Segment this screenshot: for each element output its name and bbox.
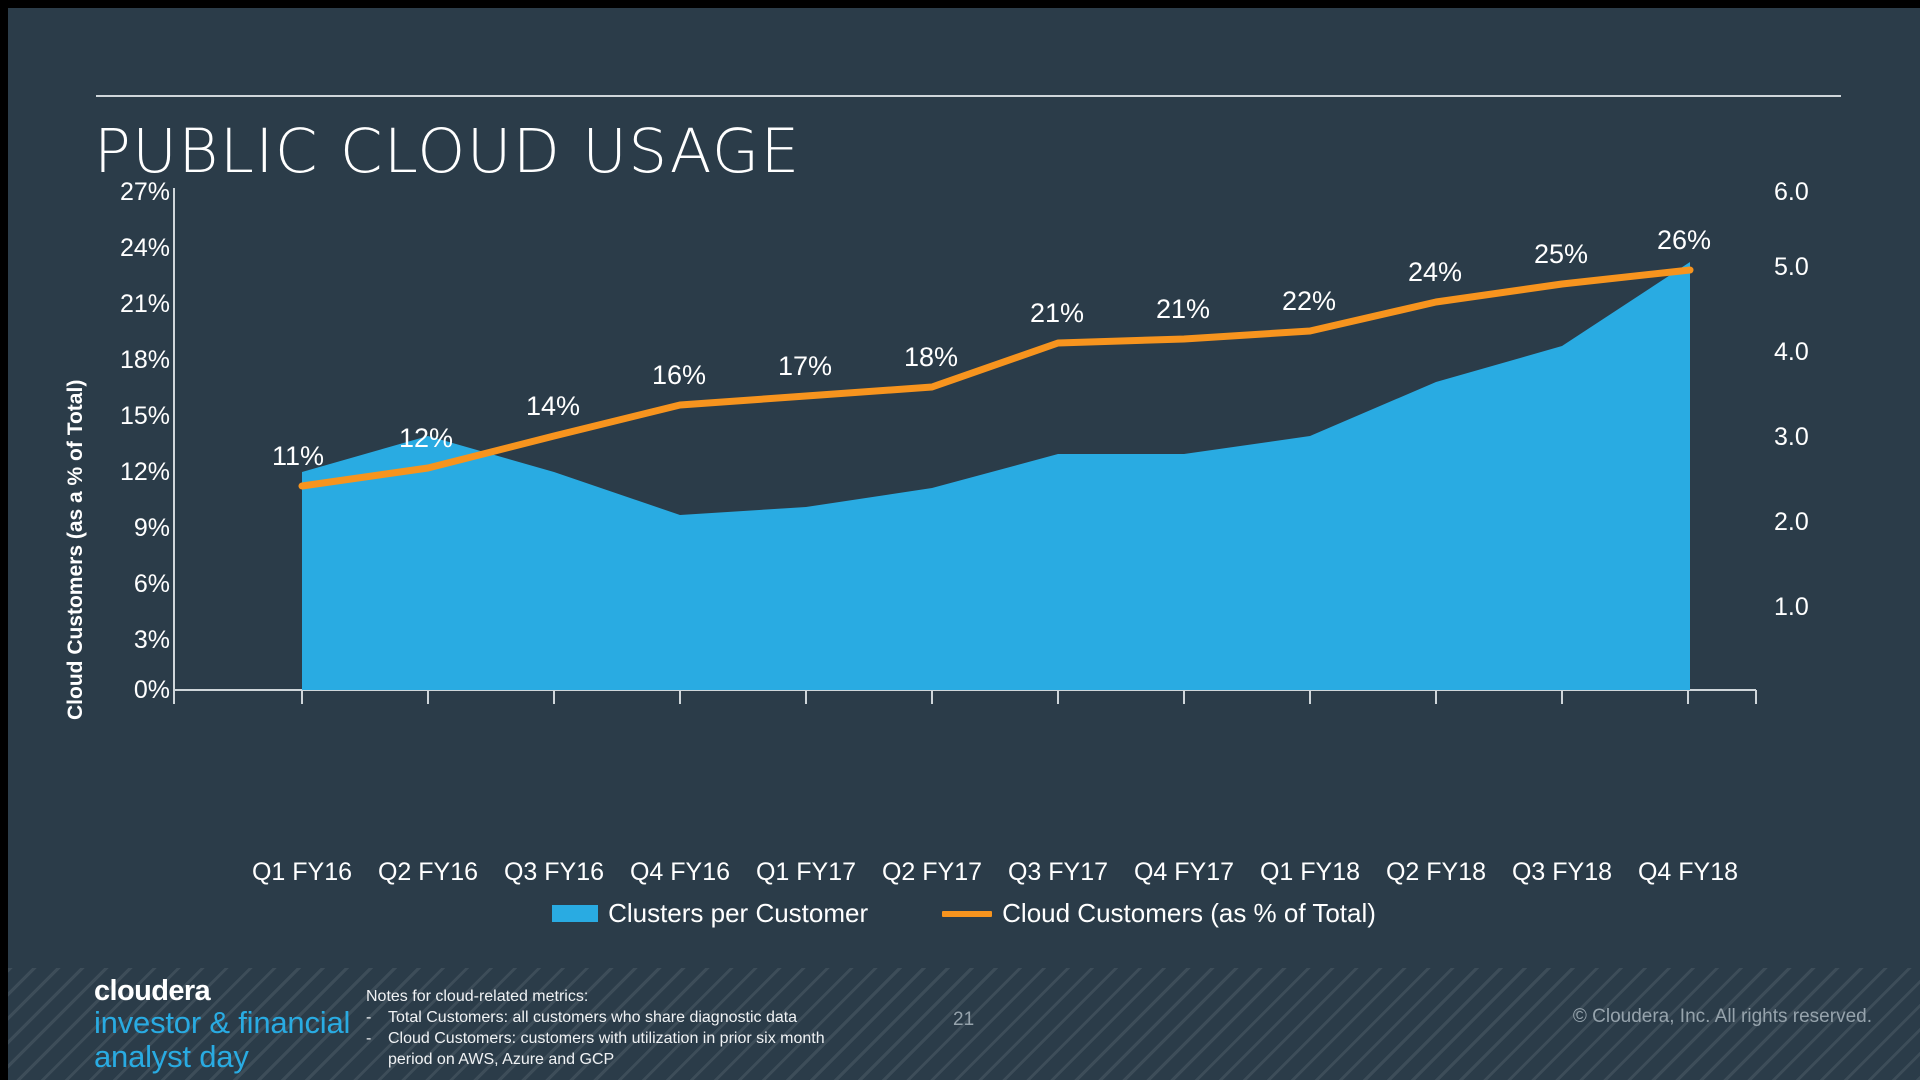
brand-name: cloudera [94, 976, 350, 1006]
y2-tick-5: 5.0 [1774, 253, 1809, 282]
y2-tick-1: 1.0 [1774, 593, 1809, 622]
chart-plot [8, 158, 1920, 948]
x-tick-q1-fy16: Q1 FY16 [252, 858, 352, 887]
y-tick-6: 6% [98, 570, 170, 599]
y2-tick-2: 2.0 [1774, 508, 1809, 537]
x-tick-q2-fy18: Q2 FY18 [1386, 858, 1486, 887]
y-tick-12: 12% [98, 458, 170, 487]
y-tick-0: 0% [98, 676, 170, 705]
x-tick-q3-fy17: Q3 FY17 [1008, 858, 1108, 887]
footnote-item-1: - Total Customers: all customers who sha… [366, 1007, 825, 1028]
x-tick-q4-fy17: Q4 FY17 [1134, 858, 1234, 887]
legend-item-cloud-customers[interactable]: Cloud Customers (as % of Total) [942, 898, 1376, 929]
cloudera-logo: cloudera investor & financial analyst da… [94, 976, 350, 1073]
data-label-q2-fy18: 24% [1408, 257, 1462, 288]
slide-canvas: PUBLIC CLOUD USAGE [8, 8, 1920, 1080]
x-tick-q1-fy17: Q1 FY17 [756, 858, 856, 887]
x-tick-q4-fy16: Q4 FY16 [630, 858, 730, 887]
brand-tagline-line2: analyst day [94, 1040, 350, 1073]
footnotes: Notes for cloud-related metrics: - Total… [366, 986, 825, 1070]
footnote-text-1: Total Customers: all customers who share… [388, 1007, 797, 1028]
y2-tick-4: 4.0 [1774, 338, 1809, 367]
footnote-dash-2: - [366, 1028, 388, 1049]
legend-label-cloud-customers: Cloud Customers (as % of Total) [1002, 898, 1376, 929]
y2-tick-3: 3.0 [1774, 423, 1809, 452]
category-axis-ticks [174, 690, 1756, 704]
x-tick-q4-fy18: Q4 FY18 [1638, 858, 1738, 887]
x-tick-q2-fy16: Q2 FY16 [378, 858, 478, 887]
legend-item-clusters-per-customer[interactable]: Clusters per Customer [552, 898, 868, 929]
footnote-heading: Notes for cloud-related metrics: [366, 986, 825, 1007]
data-label-q3-fy16: 14% [526, 391, 580, 422]
y2-tick-6: 6.0 [1774, 178, 1809, 207]
y-tick-21: 21% [98, 290, 170, 319]
data-label-q4-fy17: 21% [1156, 294, 1210, 325]
copyright-notice: © Cloudera, Inc. All rights reserved. [1573, 1006, 1872, 1028]
y-axis-title: Cloud Customers (as a % of Total) [64, 400, 88, 720]
brand-tagline-line1: investor & financial [94, 1006, 350, 1039]
data-label-q2-fy17: 18% [904, 342, 958, 373]
y-tick-27: 27% [98, 178, 170, 207]
footnote-text-2: Cloud Customers: customers with utilizat… [388, 1028, 825, 1049]
legend-label-clusters-per-customer: Clusters per Customer [608, 898, 868, 929]
footnote-text-2-continued: period on AWS, Azure and GCP [366, 1049, 825, 1070]
series-area-clusters-per-customer [302, 262, 1690, 690]
data-label-q3-fy17: 21% [1030, 298, 1084, 329]
line-swatch-icon [942, 911, 992, 917]
y-tick-15: 15% [98, 402, 170, 431]
x-tick-q1-fy18: Q1 FY18 [1260, 858, 1360, 887]
chart-container: 27% 24% 21% 18% 15% 12% 9% 6% 3% 0% Clou… [8, 158, 1920, 948]
x-tick-q2-fy17: Q2 FY17 [882, 858, 982, 887]
data-label-q1-fy18: 22% [1282, 286, 1336, 317]
y-tick-18: 18% [98, 346, 170, 375]
data-label-q1-fy16: 11% [272, 441, 324, 472]
y-tick-3: 3% [98, 626, 170, 655]
footnote-dash-1: - [366, 1007, 388, 1028]
chart-legend: Clusters per Customer Cloud Customers (a… [8, 898, 1920, 929]
slide-footer: cloudera investor & financial analyst da… [8, 968, 1920, 1080]
data-label-q2-fy16: 12% [399, 423, 453, 454]
data-label-q1-fy17: 17% [778, 351, 832, 382]
header-divider [96, 95, 1841, 97]
footnote-item-2: - Cloud Customers: customers with utiliz… [366, 1028, 825, 1049]
y-tick-24: 24% [98, 234, 170, 263]
data-label-q4-fy16: 16% [652, 360, 706, 391]
data-label-q4-fy18: 26% [1657, 225, 1711, 256]
data-label-q3-fy18: 25% [1534, 239, 1588, 270]
y-tick-9: 9% [98, 514, 170, 543]
x-tick-q3-fy18: Q3 FY18 [1512, 858, 1612, 887]
page-number: 21 [953, 1009, 974, 1031]
x-tick-q3-fy16: Q3 FY16 [504, 858, 604, 887]
area-swatch-icon [552, 905, 598, 922]
